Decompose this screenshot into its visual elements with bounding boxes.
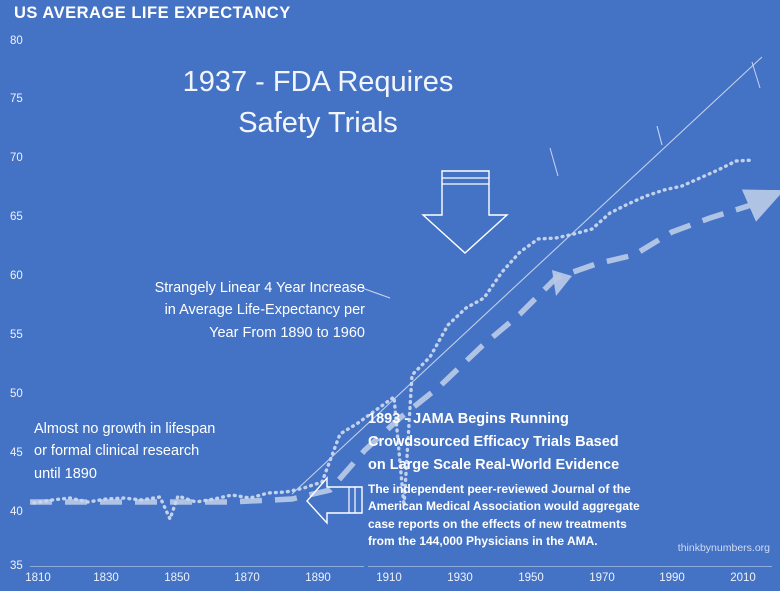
y-tick-50: 50	[10, 388, 23, 400]
y-tick-80: 80	[10, 35, 23, 47]
x-tick-2010: 2010	[713, 572, 773, 584]
x-tick-1830: 1830	[76, 572, 136, 584]
annotation-fda-headline-line2: Safety Trials	[108, 103, 528, 144]
y-tick-60: 60	[10, 270, 23, 282]
fda-down-arrow-icon	[423, 171, 507, 253]
y-tick-75: 75	[10, 93, 23, 105]
x-tick-1850: 1850	[147, 572, 207, 584]
annotation-no-growth-line3: until 1890	[34, 463, 294, 485]
annotation-linear-note-line2: in Average Life-Expectancy per	[85, 299, 365, 321]
annotation-fda-headline-line1: 1937 - FDA Requires	[108, 62, 528, 103]
x-tick-1810: 1810	[8, 572, 68, 584]
annotation-jama-title: 1893 - JAMA Begins Running Crowdsourced …	[368, 408, 678, 478]
annotation-jama-title-line3: on Large Scale Real-World Evidence	[368, 454, 678, 477]
x-tick-1950: 1950	[501, 572, 561, 584]
annotation-linear-note-line1: Strangely Linear 4 Year Increase	[85, 277, 365, 299]
watermark-credit: thinkbynumbers.org	[620, 542, 770, 554]
annotation-no-growth-note: Almost no growth in lifespan or formal c…	[34, 418, 294, 485]
annotation-jama-body-line3: case reports on the effects of new treat…	[368, 516, 688, 533]
annotation-fda-headline: 1937 - FDA Requires Safety Trials	[108, 62, 528, 144]
x-tick-1970: 1970	[572, 572, 632, 584]
x-tick-1990: 1990	[642, 572, 702, 584]
annotation-linear-note: Strangely Linear 4 Year Increase in Aver…	[85, 277, 365, 344]
x-tick-1890: 1890	[288, 572, 348, 584]
page-title: US AVERAGE LIFE EXPECTANCY	[14, 4, 291, 23]
x-tick-1930: 1930	[430, 572, 490, 584]
x-tick-1870: 1870	[217, 572, 277, 584]
annotation-linear-note-line3: Year From 1890 to 1960	[85, 322, 365, 344]
annotation-jama-body-line1: The independent peer-reviewed Journal of…	[368, 481, 688, 498]
y-tick-65: 65	[10, 211, 23, 223]
annotation-no-growth-line1: Almost no growth in lifespan	[34, 418, 294, 440]
y-tick-40: 40	[10, 506, 23, 518]
y-tick-35: 35	[10, 560, 23, 572]
y-tick-70: 70	[10, 152, 23, 164]
y-tick-45: 45	[10, 447, 23, 459]
annotation-jama-title-line1: 1893 - JAMA Begins Running	[368, 408, 678, 431]
annotation-jama-body: The independent peer-reviewed Journal of…	[368, 481, 688, 551]
annotation-jama-title-line2: Crowdsourced Efficacy Trials Based	[368, 431, 678, 454]
y-tick-55: 55	[10, 329, 23, 341]
annotation-jama-body-line2: American Medical Association would aggre…	[368, 498, 688, 515]
jama-left-arrow-icon	[307, 478, 362, 523]
chart-canvas: US AVERAGE LIFE EXPECTANCY 80 75 70 65 6…	[0, 0, 780, 591]
x-tick-1910: 1910	[359, 572, 419, 584]
annotation-no-growth-line2: or formal clinical research	[34, 440, 294, 462]
